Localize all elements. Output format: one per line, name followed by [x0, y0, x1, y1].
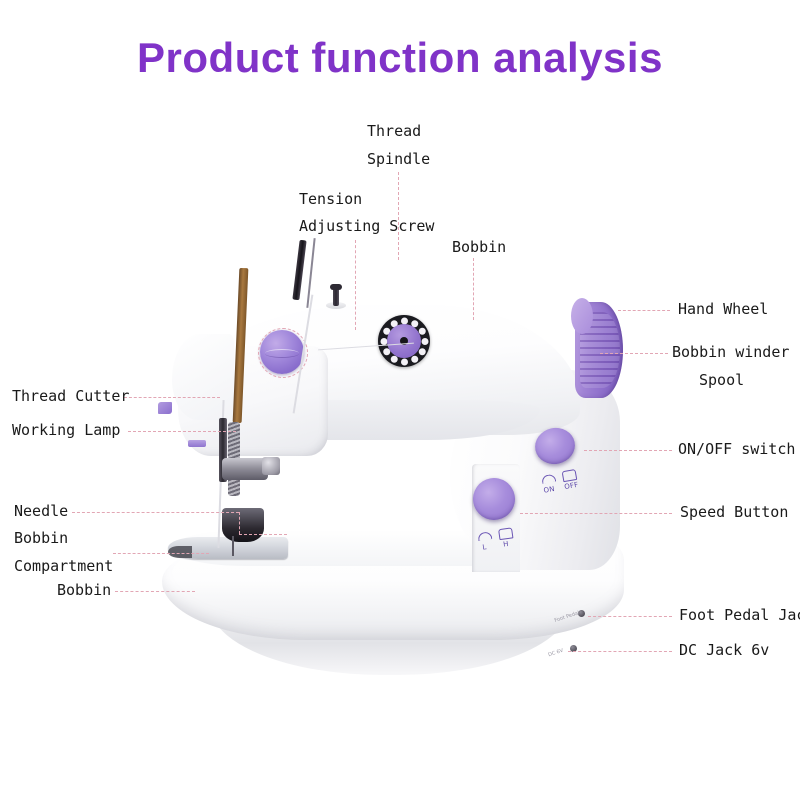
label-tension: Tension [299, 192, 362, 207]
label-bobbin-bottom: Bobbin [57, 583, 111, 598]
speed-high-symbol-icon [498, 527, 513, 540]
off-label: OFF [564, 481, 579, 491]
label-dc-jack: DC Jack 6v [679, 643, 769, 658]
bobbin-compartment-edge [168, 546, 192, 558]
bobbin-winder-spool[interactable] [571, 298, 593, 334]
label-bobbin-top: Bobbin [452, 240, 506, 255]
presser-foot [222, 508, 264, 542]
needle [232, 536, 234, 556]
on-symbol-icon [541, 474, 556, 484]
label-hand-wheel: Hand Wheel [678, 302, 768, 317]
product-function-analysis-page: Product function analysis [0, 0, 800, 800]
label-spool: Spool [699, 373, 744, 388]
thread-spindle-cap [330, 284, 342, 290]
label-on-off-switch: ON/OFF switch [678, 442, 795, 457]
label-foot-pedal-jack: Foot Pedal Jack [679, 608, 800, 623]
label-thread-cutter: Thread Cutter [12, 389, 129, 404]
label-spindle: Spindle [367, 152, 430, 167]
dc-jack-label: DC 6V [547, 648, 564, 659]
speed-low-symbol-icon [477, 531, 492, 541]
label-needle: Needle [14, 504, 68, 519]
dc-jack[interactable] [570, 645, 577, 652]
thread-spindle-pin[interactable] [333, 288, 339, 306]
needle-clamp-screw[interactable] [262, 457, 280, 475]
label-thread: Thread [367, 124, 421, 139]
working-lamp[interactable] [188, 440, 206, 447]
label-speed-button: Speed Button [680, 505, 788, 520]
sewing-machine-illustration: ON OFF L H Foot Pedal DC 6V [150, 250, 650, 700]
label-compartment: Compartment [14, 559, 113, 574]
speed-low-label: L [482, 543, 487, 551]
label-bobbin-winder: Bobbin winder [672, 345, 789, 360]
page-title: Product function analysis [0, 34, 800, 82]
machine-faceplate [172, 334, 234, 420]
label-adjusting-screw: Adjusting Screw [299, 219, 434, 234]
on-label: ON [543, 485, 555, 495]
label-working-lamp: Working Lamp [12, 423, 120, 438]
speed-high-label: H [503, 540, 509, 549]
thread-guide-rod-dark [292, 240, 306, 300]
thread-cutter[interactable] [158, 402, 172, 414]
leader-thread-spindle [398, 172, 399, 260]
label-bobbin-left: Bobbin [14, 531, 68, 546]
